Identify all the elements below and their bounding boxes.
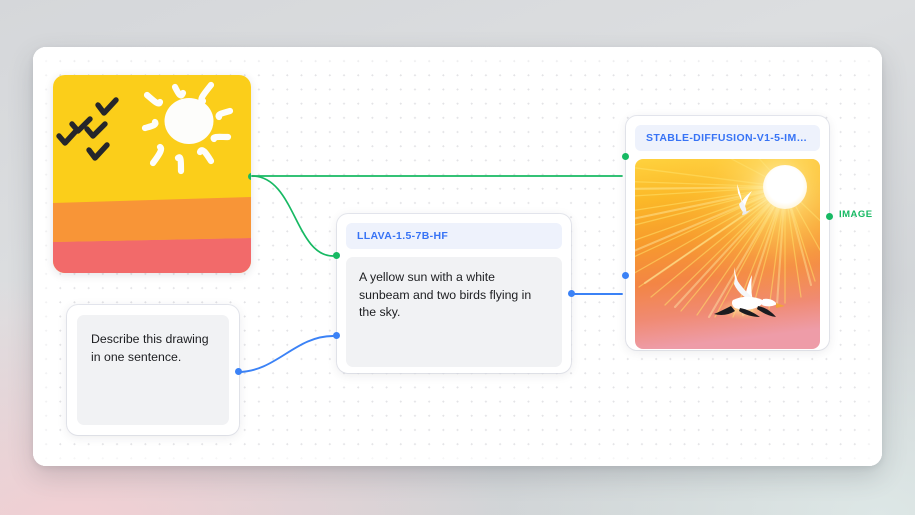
generated-image[interactable] [635,159,820,349]
port-llava-text-input[interactable] [333,332,340,339]
generated-sunset-illustration [635,159,820,349]
port-sd-image-output[interactable] [826,213,833,220]
edge-image-to-llava [252,176,333,256]
source-image-node[interactable] [53,75,251,273]
prompt-node[interactable]: Describe this drawing in one sentence. [67,305,239,435]
stable-diffusion-node[interactable]: STABLE-DIFFUSION-V1-5-IMG2IMG [626,116,829,350]
app-root: Describe this drawing in one sentence. L… [0,0,915,515]
llava-node-header: LLAVA-1.5-7B-HF [346,223,562,249]
llava-output-text: A yellow sun with a white sunbeam and tw… [346,257,562,367]
source-drawing-illustration [53,75,251,273]
canvas-window: Describe this drawing in one sentence. L… [33,47,882,466]
port-sd-image-output-label: IMAGE [839,209,873,220]
edge-prompt-to-llava [238,336,333,372]
port-sd-image-input[interactable] [622,153,629,160]
port-sd-prompt-input[interactable] [622,272,629,279]
port-image-output[interactable] [248,173,251,180]
port-llava-text-output[interactable] [568,290,575,297]
llava-node[interactable]: LLAVA-1.5-7B-HF A yellow sun with a whit… [337,214,571,373]
stable-diffusion-node-header: STABLE-DIFFUSION-V1-5-IMG2IMG [635,125,820,151]
port-llava-image-input[interactable] [333,252,340,259]
port-prompt-output[interactable] [235,368,242,375]
prompt-text[interactable]: Describe this drawing in one sentence. [77,315,229,425]
